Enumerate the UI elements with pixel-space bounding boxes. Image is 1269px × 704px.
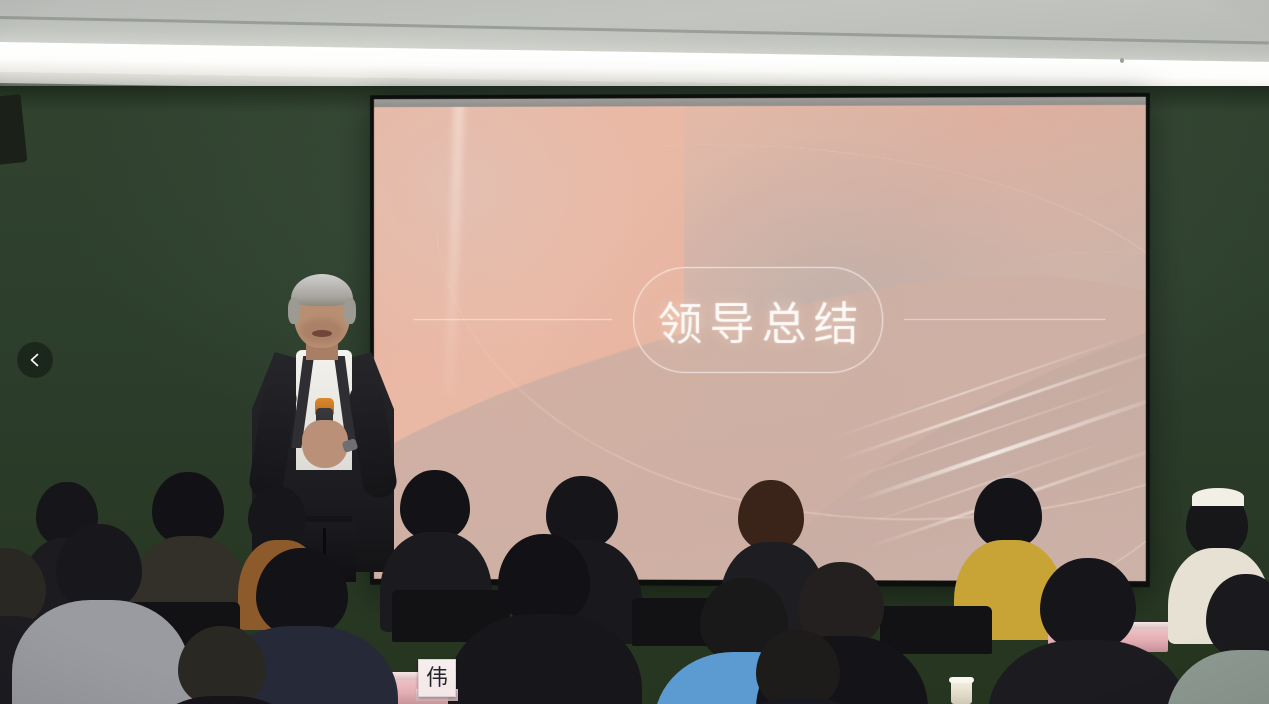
chair-back — [880, 606, 992, 654]
nameplate: 伟 — [418, 659, 456, 697]
audience-headband — [1192, 488, 1244, 506]
presenter-hair-side — [344, 298, 356, 324]
presenter-mouth — [312, 330, 332, 337]
ceiling-seam — [0, 16, 1269, 44]
photo-viewer: 领导总结 — [0, 0, 1269, 704]
audience — [0, 430, 1269, 704]
audience-head — [756, 630, 840, 704]
audience-head — [400, 470, 470, 540]
slide-title-rule-right — [904, 319, 1105, 320]
slide-title-pill: 领导总结 — [633, 267, 883, 373]
slide-left-glow — [374, 105, 652, 366]
audience-head — [498, 534, 590, 624]
audience-head — [256, 548, 348, 636]
slide-title: 领导总结 — [651, 287, 866, 352]
audience-body — [1166, 650, 1269, 704]
ceiling-light-fixture-dot — [1120, 58, 1124, 63]
presenter-hair — [291, 274, 353, 306]
audience-head — [248, 486, 306, 546]
cup-lid — [949, 677, 974, 683]
audience-head — [1040, 558, 1136, 650]
audience-head — [738, 480, 804, 550]
chevron-left-icon — [27, 352, 43, 368]
audience-head — [56, 524, 142, 610]
previous-image-button[interactable] — [17, 342, 53, 378]
slide-title-rule-left — [414, 319, 613, 320]
audience-head — [178, 626, 266, 704]
audience-head — [152, 472, 224, 544]
audience-head — [974, 478, 1042, 548]
nameplate-text: 伟 — [426, 667, 448, 689]
presenter-hair-side — [288, 298, 300, 324]
